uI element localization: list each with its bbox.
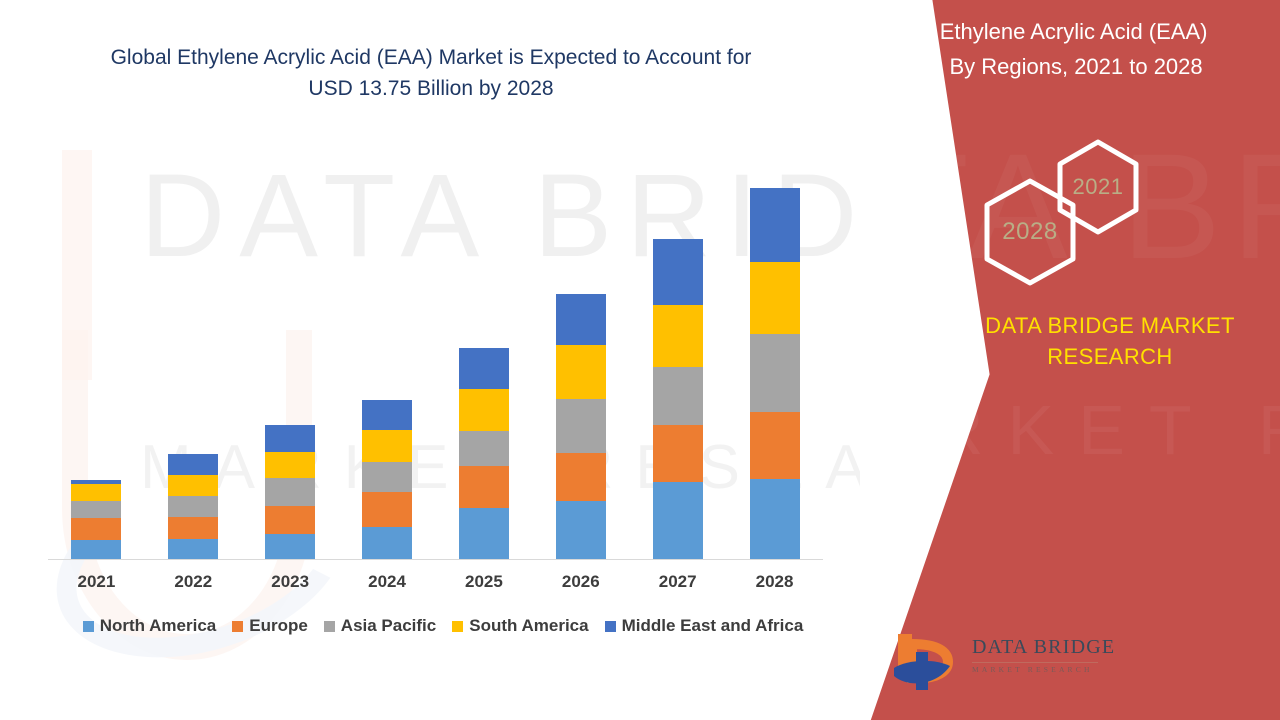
hexagon-start-year-label: 2021: [1073, 174, 1124, 200]
bar-column: [727, 188, 823, 559]
legend-label: North America: [100, 616, 217, 636]
bar-segment[interactable]: [71, 484, 121, 501]
legend-label: Europe: [249, 616, 308, 636]
bar-segment[interactable]: [362, 527, 412, 559]
hexagon-end-year-label: 2028: [1002, 218, 1057, 246]
bar-segment[interactable]: [265, 452, 315, 478]
bar-segment[interactable]: [556, 294, 606, 345]
x-axis-tick-2027: 2027: [630, 572, 726, 592]
logo-main-text: DATA BRIDGE: [972, 636, 1102, 659]
bar-segment[interactable]: [71, 518, 121, 540]
logo-text: DATA BRIDGE MARKET RESEARCH: [972, 636, 1102, 674]
bar-segment[interactable]: [750, 412, 800, 479]
stacked-bar[interactable]: [750, 188, 800, 559]
bar-segment[interactable]: [265, 478, 315, 506]
x-axis-tick-2022: 2022: [145, 572, 241, 592]
bar-segment[interactable]: [168, 475, 218, 496]
bar-segment[interactable]: [459, 431, 509, 466]
bar-segment[interactable]: [750, 479, 800, 559]
legend-swatch-icon: [605, 621, 616, 632]
stacked-bar[interactable]: [653, 239, 703, 559]
stacked-bar[interactable]: [459, 348, 509, 559]
bar-segment[interactable]: [71, 501, 121, 518]
bar-segment[interactable]: [653, 239, 703, 305]
stacked-bar[interactable]: [265, 425, 315, 559]
legend-item[interactable]: South America: [452, 616, 588, 636]
bar-segment[interactable]: [362, 462, 412, 492]
bar-segment[interactable]: [653, 305, 703, 367]
bar-segment[interactable]: [168, 454, 218, 475]
bar-segment[interactable]: [653, 367, 703, 425]
panel-title: Global Ethylene Acrylic Acid (EAA) Marke…: [870, 14, 1270, 84]
chart-baseline: [48, 559, 823, 560]
bar-segment[interactable]: [459, 508, 509, 559]
legend-item[interactable]: Asia Pacific: [324, 616, 436, 636]
logo-sub-text: MARKET RESEARCH: [972, 665, 1102, 674]
x-axis-tick-2026: 2026: [533, 572, 629, 592]
x-axis-tick-2028: 2028: [727, 572, 823, 592]
bar-segment[interactable]: [168, 496, 218, 517]
stacked-bar[interactable]: [556, 294, 606, 559]
legend-label: Asia Pacific: [341, 616, 436, 636]
bar-column: [630, 239, 726, 559]
stacked-bar[interactable]: [362, 400, 412, 559]
legend-swatch-icon: [452, 621, 463, 632]
legend-item[interactable]: Europe: [232, 616, 308, 636]
bar-segment[interactable]: [362, 492, 412, 527]
bar-segment[interactable]: [459, 348, 509, 389]
bar-column: [48, 480, 144, 559]
logo-mark-icon: [890, 632, 962, 694]
chart-plot-area: [48, 160, 823, 560]
bar-segment[interactable]: [265, 506, 315, 534]
legend-swatch-icon: [83, 621, 94, 632]
x-axis-tick-2025: 2025: [436, 572, 532, 592]
bar-segment[interactable]: [168, 539, 218, 559]
stacked-bar[interactable]: [71, 480, 121, 559]
x-axis-tick-2021: 2021: [48, 572, 144, 592]
chart-legend: North AmericaEuropeAsia PacificSouth Ame…: [48, 616, 838, 636]
bar-segment[interactable]: [653, 482, 703, 559]
bar-segment[interactable]: [556, 453, 606, 501]
legend-swatch-icon: [324, 621, 335, 632]
bar-segment[interactable]: [362, 400, 412, 430]
stacked-bar-group: [48, 160, 823, 559]
legend-label: South America: [469, 616, 588, 636]
panel-watermark-2: MARKET RESEARCH: [840, 390, 1280, 470]
bar-segment[interactable]: [556, 399, 606, 453]
x-axis-tick-2024: 2024: [339, 572, 435, 592]
bar-column: [436, 348, 532, 559]
bar-segment[interactable]: [556, 345, 606, 399]
right-red-panel: DATA BRIDGE MARKET RESEARCH Global Ethyl…: [840, 0, 1280, 720]
bar-segment[interactable]: [168, 517, 218, 539]
bar-segment[interactable]: [71, 540, 121, 559]
x-axis-tick-2023: 2023: [242, 572, 338, 592]
bar-segment[interactable]: [556, 501, 606, 559]
infographic-slide: DATA BRIDGE MARKET RESEARCH Global Ethyl…: [0, 0, 1280, 720]
bar-segment[interactable]: [265, 534, 315, 559]
bar-column: [339, 400, 435, 559]
legend-swatch-icon: [232, 621, 243, 632]
bar-segment[interactable]: [750, 334, 800, 412]
brand-name: DATA BRIDGE MARKET RESEARCH: [950, 310, 1270, 372]
legend-item[interactable]: North America: [83, 616, 217, 636]
stacked-bar[interactable]: [168, 454, 218, 559]
bar-segment[interactable]: [362, 430, 412, 462]
bar-segment[interactable]: [265, 425, 315, 452]
bar-segment[interactable]: [459, 466, 509, 508]
bar-column: [242, 425, 338, 559]
hexagon-pair: 2028 2021: [980, 148, 1240, 288]
logo-divider: [972, 662, 1098, 663]
bar-segment[interactable]: [653, 425, 703, 482]
bar-column: [145, 454, 241, 559]
chart-title: Global Ethylene Acrylic Acid (EAA) Marke…: [96, 42, 766, 104]
x-axis-labels: 20212022202320242025202620272028: [48, 572, 823, 592]
bar-segment[interactable]: [459, 389, 509, 431]
company-logo: DATA BRIDGE MARKET RESEARCH: [890, 632, 1100, 694]
bar-segment[interactable]: [750, 262, 800, 334]
bar-segment[interactable]: [750, 188, 800, 262]
legend-label: Middle East and Africa: [622, 616, 804, 636]
legend-item[interactable]: Middle East and Africa: [605, 616, 804, 636]
hexagon-start-year: 2021: [1054, 138, 1142, 236]
bar-column: [533, 294, 629, 559]
